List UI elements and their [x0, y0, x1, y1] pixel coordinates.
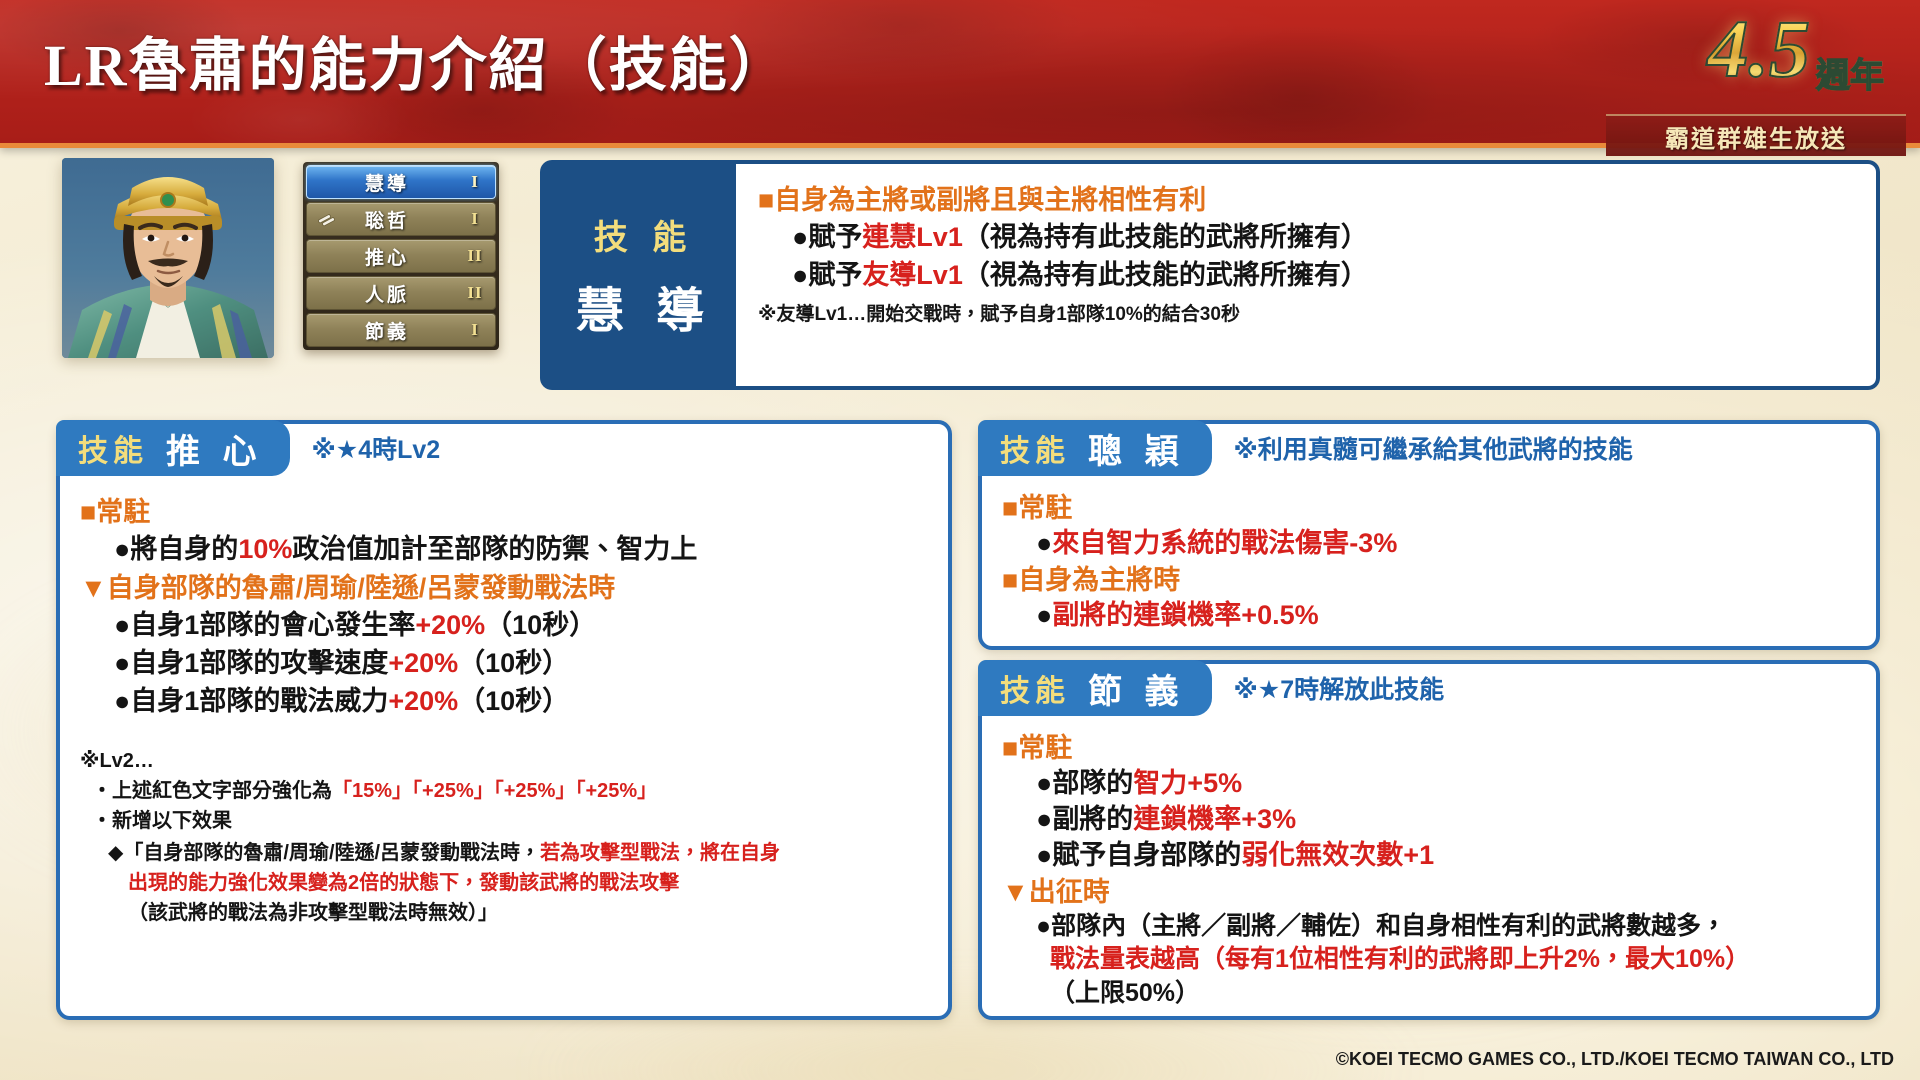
bullet-icon: ● [1036, 528, 1052, 558]
line-pre: 部隊內（主將／副將／輔佐）和自身相性有利的武將數越多， [1051, 912, 1726, 940]
section-0-line-1: ●副將的連鎖機率+3% [1002, 802, 1858, 838]
bullet-icon: ● [1036, 840, 1052, 870]
fine-red-0: 「15%」 [332, 780, 412, 802]
bullet-icon: ● [792, 222, 808, 252]
bullet-icon: ● [114, 648, 130, 678]
section-1-line-0: ●自身1部隊的會心發生率+20%（10秒） [80, 608, 930, 644]
hero-skill-line-0-highlight: 連慧Lv1 [862, 222, 963, 252]
quote-line-0: ◆「自身部隊的魯肅/周瑜/陸遜/呂蒙發動戰法時，若為攻擊型戰法，將在自身 [108, 838, 930, 868]
hero-skill-kind-label: 技 能 [586, 210, 695, 259]
quote-line-2: （該武將的戰法為非攻擊型戰法時無效）」 [108, 898, 930, 928]
card-body-tuixin: ■常駐 ●將自身的10%政治值加計至部隊的防禦、智力上 ▼自身部隊的魯肅/周瑜/… [60, 424, 948, 942]
fine-print-title: ※Lv2… [80, 746, 930, 776]
section-1-extra-1: （上限50%） [1002, 977, 1858, 1010]
line-highlight: 副將的連鎖機率+0.5% [1052, 600, 1318, 630]
skill-list-item-name: 人脈 [307, 280, 455, 307]
section-heading: ■常駐 [1002, 490, 1858, 526]
line-pre: 自身1部隊的攻擊速度 [130, 648, 388, 678]
quote-line-1: 出現的能力強化效果變為2倍的狀態下，發動該武將的戰法攻擊 [108, 868, 930, 898]
bullet-icon: ● [1036, 804, 1052, 834]
card-kind-label: 技能 [1000, 426, 1070, 470]
anniversary-number: 4.5 [1708, 8, 1811, 90]
skill-list-item-level: II [455, 246, 495, 266]
fine-text: 新增以下效果 [112, 810, 232, 832]
skill-card-jieyi: 技能 節 義 ※★7時解放此技能 ■常駐 ●部隊的智力+5% ●副將的連鎖機率+… [978, 660, 1880, 1020]
anniversary-logo: 4.5 週年 霸道群雄生放送 [1586, 6, 1906, 134]
character-portrait [62, 158, 274, 358]
line-pre: 自身1部隊的會心發生率 [130, 610, 415, 640]
card-skill-name: 節 義 [1088, 664, 1186, 713]
inherit-scroll-icon [317, 212, 337, 228]
skill-card-congying: 技能 聰 穎 ※利用真髓可繼承給其他武將的技能 ■常駐 ●來自智力系統的戰法傷害… [978, 420, 1880, 650]
bullet-icon: ● [114, 686, 130, 716]
bullet-icon: ● [1036, 768, 1052, 798]
section-0-line-0: ●將自身的10%政治值加計至部隊的防禦、智力上 [80, 532, 930, 568]
section-1-line-1: ●自身1部隊的攻擊速度+20%（10秒） [80, 646, 930, 682]
card-header-jieyi: 技能 節 義 ※★7時解放此技能 [978, 660, 1880, 716]
fine-red-3: 「+25%」 [575, 780, 657, 802]
card-skill-name: 聰 穎 [1088, 424, 1186, 473]
section-heading: ■常駐 [80, 494, 930, 530]
card-body-jieyi: ■常駐 ●部隊的智力+5% ●副將的連鎖機率+3% ●賦予自身部隊的弱化無效次數… [982, 664, 1876, 1024]
line-highlight: +20% [388, 686, 458, 716]
hero-skill-line-1-pre: 賦予 [808, 260, 862, 290]
skill-list-item-3[interactable]: 人脈 II [306, 276, 496, 310]
quote-marker: ◆ [108, 842, 123, 864]
card-header-congying: 技能 聰 穎 ※利用真髓可繼承給其他武將的技能 [978, 420, 1880, 476]
hero-skill-card: 技 能 慧 導 ■自身為主將或副將且與主將相性有利 ●賦予連慧Lv1（視為持有此… [540, 160, 1880, 390]
hero-skill-line-1-post: （視為持有此技能的武將所擁有） [963, 260, 1368, 290]
anniversary-subtitle: 霸道群雄生放送 [1606, 114, 1906, 156]
skill-list-item-name: 慧導 [307, 169, 455, 196]
hero-skill-line-0-post: （視為持有此技能的武將所擁有） [963, 222, 1368, 252]
fine-print-item-1: ・新增以下效果 [80, 806, 930, 836]
card-header-note: ※利用真髓可繼承給其他武將的技能 [1234, 430, 1633, 466]
skill-list-item-name: 節義 [307, 317, 455, 344]
card-header-note: ※★4時Lv2 [312, 430, 441, 466]
hero-skill-line-1: ●賦予友導Lv1（視為持有此技能的武將所擁有） [758, 258, 1856, 294]
section-heading: ▼出征時 [1002, 874, 1858, 910]
hero-skill-note: ※友導Lv1…開始交戰時，賦予自身1部隊10%的結合30秒 [758, 302, 1856, 329]
section-heading: ■常駐 [1002, 730, 1858, 766]
line-highlight: +20% [415, 610, 485, 640]
section-1-line-0: ●副將的連鎖機率+0.5% [1002, 598, 1858, 634]
fine-red-2: 「+25%」 [494, 780, 576, 802]
line-pre: 副將的 [1052, 804, 1133, 834]
fine-marker: ・ [92, 780, 112, 802]
line-pre: 賦予自身部隊的 [1052, 840, 1241, 870]
line-post: 政治值加計至部隊的防禦、智力上 [292, 534, 697, 564]
page-title: LR魯肅的能力介紹（技能） [44, 18, 789, 102]
hero-skill-heading: ■自身為主將或副將且與主將相性有利 [758, 182, 1856, 218]
bullet-icon: ● [1036, 600, 1052, 630]
card-header-note: ※★7時解放此技能 [1234, 670, 1445, 706]
card-header-pill: 技能 推 心 [56, 420, 290, 476]
section-heading: ■自身為主將時 [1002, 562, 1858, 598]
card-header-pill: 技能 聰 穎 [978, 420, 1212, 476]
line-post: （10秒） [485, 610, 596, 640]
quote-red: 若為攻擊型戰法，將在自身 [540, 842, 780, 864]
section-0-line-0: ●部隊的智力+5% [1002, 766, 1858, 802]
portrait-artwork [62, 158, 274, 358]
quote-black: 「自身部隊的魯肅/周瑜/陸遜/呂蒙發動戰法時， [123, 842, 540, 864]
skill-list-item-2[interactable]: 推心 II [306, 239, 496, 273]
hero-skill-name: 慧 導 [566, 271, 714, 341]
line-highlight: 弱化無效次數+1 [1241, 840, 1434, 870]
hero-skill-line-0-pre: 賦予 [808, 222, 862, 252]
line-highlight: 來自智力系統的戰法傷害-3% [1052, 528, 1397, 558]
skill-list-item-level: I [455, 209, 495, 229]
skill-list-item-level: I [455, 172, 495, 192]
line-highlight: 智力+5% [1133, 768, 1242, 798]
skill-list-item-1[interactable]: 聡哲 I [306, 202, 496, 236]
fine-red-1: 「+25%」 [412, 780, 494, 802]
bullet-icon: ● [792, 260, 808, 290]
skill-list-item-level: II [455, 283, 495, 303]
fine-print-block: ※Lv2… ・上述紅色文字部分強化為「15%」「+25%」「+25%」「+25%… [80, 746, 930, 928]
slide-root: LR魯肅的能力介紹（技能） 4.5 週年 霸道群雄生放送 [0, 0, 1920, 1080]
skill-card-tuixin: 技能 推 心 ※★4時Lv2 ■常駐 ●將自身的10%政治值加計至部隊的防禦、智… [56, 420, 952, 1020]
skill-list-item-level: I [455, 320, 495, 340]
anniversary-suffix: 週年 [1816, 60, 1884, 94]
line-post: （10秒） [458, 686, 569, 716]
bullet-icon: ● [1036, 912, 1051, 940]
bullet-icon: ● [114, 610, 130, 640]
bullet-icon: ● [114, 534, 130, 564]
line-pre: 部隊的 [1052, 768, 1133, 798]
card-header-tuixin: 技能 推 心 ※★4時Lv2 [56, 420, 952, 476]
hero-skill-panel: ■自身為主將或副將且與主將相性有利 ●賦予連慧Lv1（視為持有此技能的武將所擁有… [736, 160, 1880, 390]
fine-print-item-0: ・上述紅色文字部分強化為「15%」「+25%」「+25%」「+25%」 [80, 776, 930, 806]
line-pre: 自身1部隊的戰法威力 [130, 686, 388, 716]
skill-list-item-0[interactable]: 慧導 I [306, 165, 496, 199]
card-kind-label: 技能 [1000, 666, 1070, 710]
skill-list-item-name: 推心 [307, 243, 455, 270]
hero-skill-line-1-highlight: 友導Lv1 [862, 260, 963, 290]
fine-text: 上述紅色文字部分強化為 [112, 780, 332, 802]
line-highlight: +20% [388, 648, 458, 678]
section-1-line-2: ●自身1部隊的戰法威力+20%（10秒） [80, 684, 930, 720]
section-1-line-0: ●部隊內（主將／副將／輔佐）和自身相性有利的武將數越多， [1002, 910, 1858, 943]
skill-list-item-4[interactable]: 節義 I [306, 313, 496, 347]
section-0-line-0: ●來自智力系統的戰法傷害-3% [1002, 526, 1858, 562]
card-kind-label: 技能 [78, 426, 148, 470]
line-post: （10秒） [458, 648, 569, 678]
hero-skill-tab: 技 能 慧 導 [540, 160, 740, 390]
section-heading: ▼自身部隊的魯肅/周瑜/陸遜/呂蒙發動戰法時 [80, 570, 930, 606]
line-highlight: 連鎖機率+3% [1133, 804, 1296, 834]
card-header-pill: 技能 節 義 [978, 660, 1212, 716]
line-highlight: 10% [238, 534, 292, 564]
hero-skill-line-0: ●賦予連慧Lv1（視為持有此技能的武將所擁有） [758, 220, 1856, 256]
skill-list[interactable]: 慧導 I 聡哲 I 推心 II 人脈 II 節義 [303, 162, 499, 350]
fine-marker: ・ [92, 810, 112, 832]
fine-print-quote: ◆「自身部隊的魯肅/周瑜/陸遜/呂蒙發動戰法時，若為攻擊型戰法，將在自身 出現的… [80, 838, 930, 928]
section-1-extra-0: 戰法量表越高（每有1位相性有利的武將即上升2%，最大10%） [1002, 943, 1858, 976]
header-banner: LR魯肅的能力介紹（技能） 4.5 週年 霸道群雄生放送 [0, 0, 1920, 148]
section-0-line-2: ●賦予自身部隊的弱化無效次數+1 [1002, 838, 1858, 874]
line-pre: 將自身的 [130, 534, 238, 564]
copyright-text: ©KOEI TECMO GAMES CO., LTD./KOEI TECMO T… [1336, 1049, 1894, 1070]
card-skill-name: 推 心 [166, 424, 264, 473]
